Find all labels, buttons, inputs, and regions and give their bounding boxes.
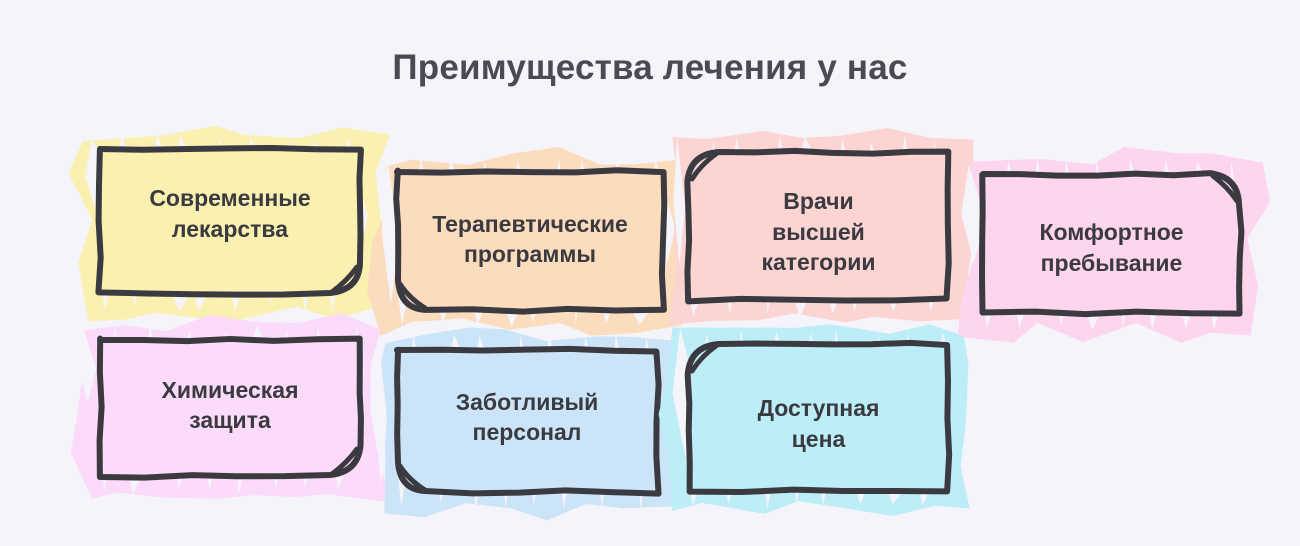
card-sketch-shape — [97, 337, 363, 479]
card-sketch-shape — [686, 341, 951, 494]
card-sketch-shape — [394, 347, 660, 495]
page-title: Преимущества лечения у нас — [0, 48, 1300, 88]
benefit-card[interactable]: Химическая защита — [97, 337, 363, 479]
benefit-card[interactable]: Комфортное пребывание — [980, 171, 1243, 316]
benefit-card[interactable]: Заботливый персонал — [394, 347, 660, 495]
card-fill — [688, 343, 950, 492]
card-fill — [982, 173, 1241, 314]
benefit-card[interactable]: Врачи высшей категории — [686, 149, 951, 303]
card-sketch-shape — [686, 149, 951, 303]
card-sketch-shape — [980, 171, 1243, 316]
card-sketch-shape — [97, 146, 363, 297]
card-fill — [98, 148, 361, 295]
card-fill — [687, 151, 948, 301]
card-fill — [397, 349, 659, 494]
card-fill — [100, 339, 361, 478]
benefit-card[interactable]: Доступная цена — [686, 341, 951, 494]
slide-canvas: Преимущества лечения у нас Современные л… — [0, 0, 1300, 546]
benefit-card[interactable]: Терапевтические программы — [394, 169, 666, 313]
card-sketch-shape — [394, 169, 666, 313]
benefit-card[interactable]: Современные лекарства — [97, 146, 363, 297]
card-fill — [396, 170, 664, 311]
